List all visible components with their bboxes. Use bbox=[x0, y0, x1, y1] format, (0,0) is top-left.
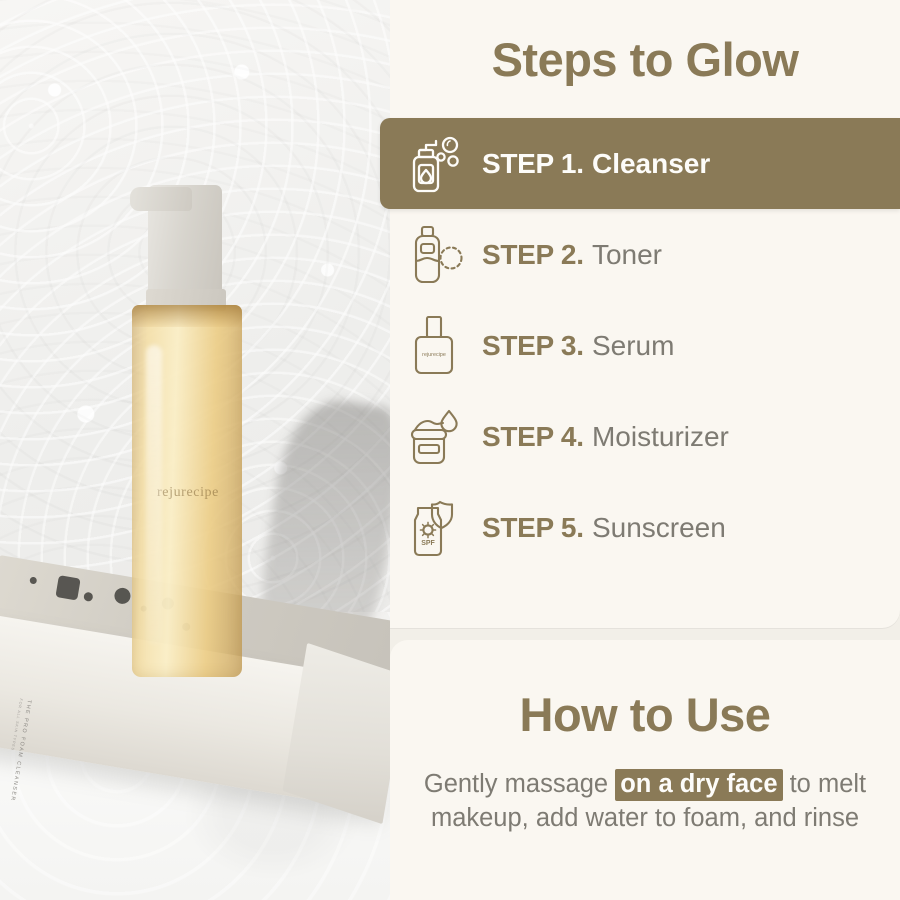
step-name: Moisturizer bbox=[592, 421, 729, 452]
step-row-moisturizer[interactable]: STEP 4.Moisturizer bbox=[390, 391, 900, 482]
step-label: STEP 4.Moisturizer bbox=[482, 423, 729, 451]
howto-text-after: to melt bbox=[783, 770, 867, 798]
step-row-toner[interactable]: STEP 2.Toner bbox=[390, 209, 900, 300]
steps-list: STEP 1.Cleanser bbox=[390, 118, 900, 573]
pump-bottle-bubbles-icon bbox=[390, 132, 482, 196]
sunscreen-tube-shield-icon: SPF bbox=[390, 496, 482, 560]
product-photo: THE PRO FOAM CLEANSER FOR ALL SKIN TYPES… bbox=[0, 0, 390, 900]
bottle-label-text: rejurecipe bbox=[142, 485, 234, 501]
bottle-body: rejurecipe bbox=[132, 305, 242, 677]
step-name: Toner bbox=[592, 239, 662, 270]
promo-graphic: THE PRO FOAM CLEANSER FOR ALL SKIN TYPES… bbox=[0, 0, 900, 900]
cleansing-oil-bottle: rejurecipe bbox=[132, 185, 242, 677]
step-label: STEP 1.Cleanser bbox=[482, 150, 710, 178]
box-side-copy: THE PRO FOAM CLEANSER FOR ALL SKIN TYPES bbox=[2, 698, 32, 802]
cream-jar-droplet-icon bbox=[390, 405, 482, 469]
howto-text-line2: makeup, add water to foam, and rinse bbox=[431, 804, 859, 832]
step-separator: . bbox=[576, 512, 584, 543]
step-number: STEP 2 bbox=[482, 239, 576, 270]
bottle-pump-cap bbox=[148, 185, 222, 297]
howto-instructions: Gently massage on a dry face to melt mak… bbox=[412, 768, 878, 836]
step-name: Sunscreen bbox=[592, 512, 726, 543]
serum-bottle-label: rejurecipe bbox=[422, 352, 446, 358]
sunscreen-spf-label: SPF bbox=[421, 540, 435, 547]
step-number: STEP 4 bbox=[482, 421, 576, 452]
steps-title: Steps to Glow bbox=[390, 32, 900, 87]
step-label: STEP 5.Sunscreen bbox=[482, 514, 726, 542]
step-row-sunscreen[interactable]: SPF STEP 5.Sunscreen bbox=[390, 482, 900, 573]
serum-dropper-bottle-icon: rejurecipe bbox=[390, 314, 482, 378]
step-number: STEP 5 bbox=[482, 512, 576, 543]
steps-card: Steps to Glow bbox=[390, 0, 900, 628]
step-separator: . bbox=[576, 330, 584, 361]
step-label: STEP 3.Serum bbox=[482, 332, 674, 360]
info-panel: Steps to Glow bbox=[390, 0, 900, 900]
step-separator: . bbox=[576, 148, 584, 179]
step-number: STEP 1 bbox=[482, 148, 576, 179]
step-number: STEP 3 bbox=[482, 330, 576, 361]
step-name: Cleanser bbox=[592, 148, 710, 179]
step-label: STEP 2.Toner bbox=[482, 241, 662, 269]
step-row-cleanser[interactable]: STEP 1.Cleanser bbox=[380, 118, 900, 209]
howto-title: How to Use bbox=[390, 687, 900, 742]
howto-text-before: Gently massage bbox=[424, 770, 615, 798]
bottle-pump-nozzle bbox=[130, 187, 192, 211]
howto-card: How to Use Gently massage on a dry face … bbox=[390, 640, 900, 900]
step-row-serum[interactable]: rejurecipe STEP 3.Serum bbox=[390, 300, 900, 391]
step-name: Serum bbox=[592, 330, 674, 361]
step-separator: . bbox=[576, 239, 584, 270]
howto-highlight: on a dry face bbox=[615, 769, 782, 801]
toner-bottle-cotton-pad-icon bbox=[390, 223, 482, 287]
step-separator: . bbox=[576, 421, 584, 452]
